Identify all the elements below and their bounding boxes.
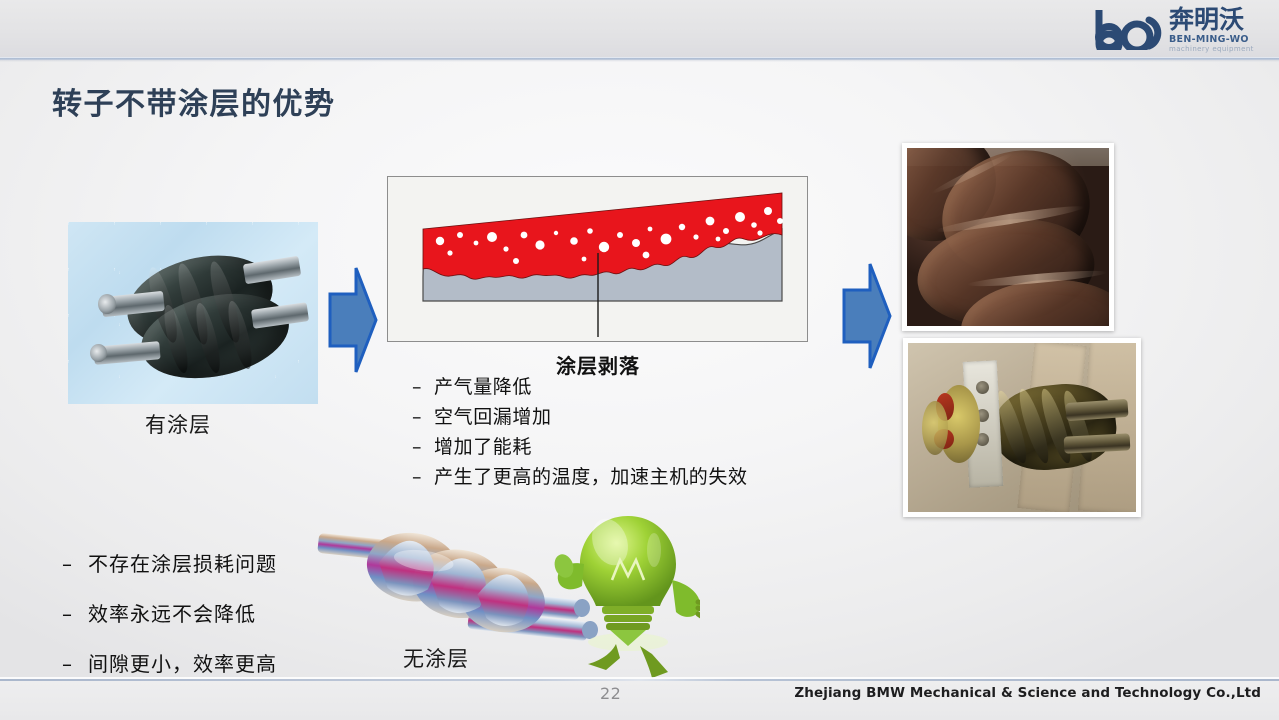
bullet-dash: –: [62, 602, 88, 626]
uncoated-rotor-illustration: [300, 512, 700, 680]
page-title: 转子不带涂层的优势: [52, 79, 336, 123]
caption-coated-rotor: 有涂层: [145, 409, 211, 439]
list-item-label: 效率永远不会降低: [88, 598, 256, 627]
rotor-shaft: [1064, 433, 1131, 453]
bullet-dash: –: [412, 436, 434, 458]
logo-romanized-name: BEN-MING-WO: [1169, 34, 1249, 45]
blue-right-arrow-icon-2: [840, 258, 894, 374]
bolt-hole: [976, 381, 989, 394]
uncoated-chrome-rotor-with-green-bulb-mascot: [300, 512, 700, 680]
bo-monogram-logo-icon: [1093, 8, 1167, 50]
page-number: 22: [600, 684, 621, 703]
coating-problem-bullet-list: – 产气量降低 – 空气回漏增加 – 增加了能耗 – 产生了更高的温度，加速主机…: [412, 372, 812, 492]
list-item: – 增加了能耗: [412, 432, 812, 459]
worn-rotor-closeup-photo: [902, 143, 1114, 331]
shaft-end-cap: [90, 344, 107, 362]
header-band: [0, 0, 1279, 58]
caption-uncoated-rotor: 无涂层: [403, 643, 469, 673]
bullet-dash: –: [62, 652, 88, 676]
list-item: – 空气回漏增加: [412, 402, 812, 429]
list-item-label: 产气量降低: [434, 372, 532, 399]
disassembled-compressor-rotor-photo: [903, 338, 1141, 517]
bullet-dash: –: [412, 376, 434, 398]
header-divider-shadow: [0, 60, 1279, 62]
list-item-label: 产生了更高的温度，加速主机的失效: [434, 462, 748, 489]
logo-chinese-name: 奔明沃: [1169, 6, 1244, 34]
coated-screw-rotor-photo: [68, 222, 318, 404]
list-item-label: 空气回漏增加: [434, 402, 552, 429]
bullet-dash: –: [412, 406, 434, 428]
coating-delamination-cross-section: [387, 176, 808, 342]
logo-tagline: machinery equipment: [1169, 45, 1254, 53]
shaft-end-cap: [98, 294, 116, 314]
list-item-label: 增加了能耗: [434, 432, 532, 459]
slide-canvas: 奔明沃 BEN-MING-WO machinery equipment 转子不带…: [0, 0, 1279, 720]
blue-right-arrow-icon-1: [326, 262, 380, 378]
photo-image: [908, 343, 1136, 512]
list-item: – 产生了更高的温度，加速主机的失效: [412, 462, 812, 489]
list-item-label: 间隙更小，效率更高: [88, 648, 277, 677]
gear-teeth: [922, 401, 948, 455]
logo-text-block: 奔明沃 BEN-MING-WO machinery equipment: [1169, 6, 1265, 54]
bullet-dash: –: [62, 552, 88, 576]
company-logo[interactable]: 奔明沃 BEN-MING-WO machinery equipment: [1093, 6, 1265, 54]
cross-section-drawing: [388, 177, 807, 341]
list-item-label: 不存在涂层损耗问题: [88, 548, 277, 577]
bullet-dash: –: [412, 466, 434, 488]
list-item: – 产气量降低: [412, 372, 812, 399]
footer-company-name: Zhejiang BMW Mechanical & Science and Te…: [794, 685, 1261, 701]
photo-image: [907, 148, 1109, 326]
